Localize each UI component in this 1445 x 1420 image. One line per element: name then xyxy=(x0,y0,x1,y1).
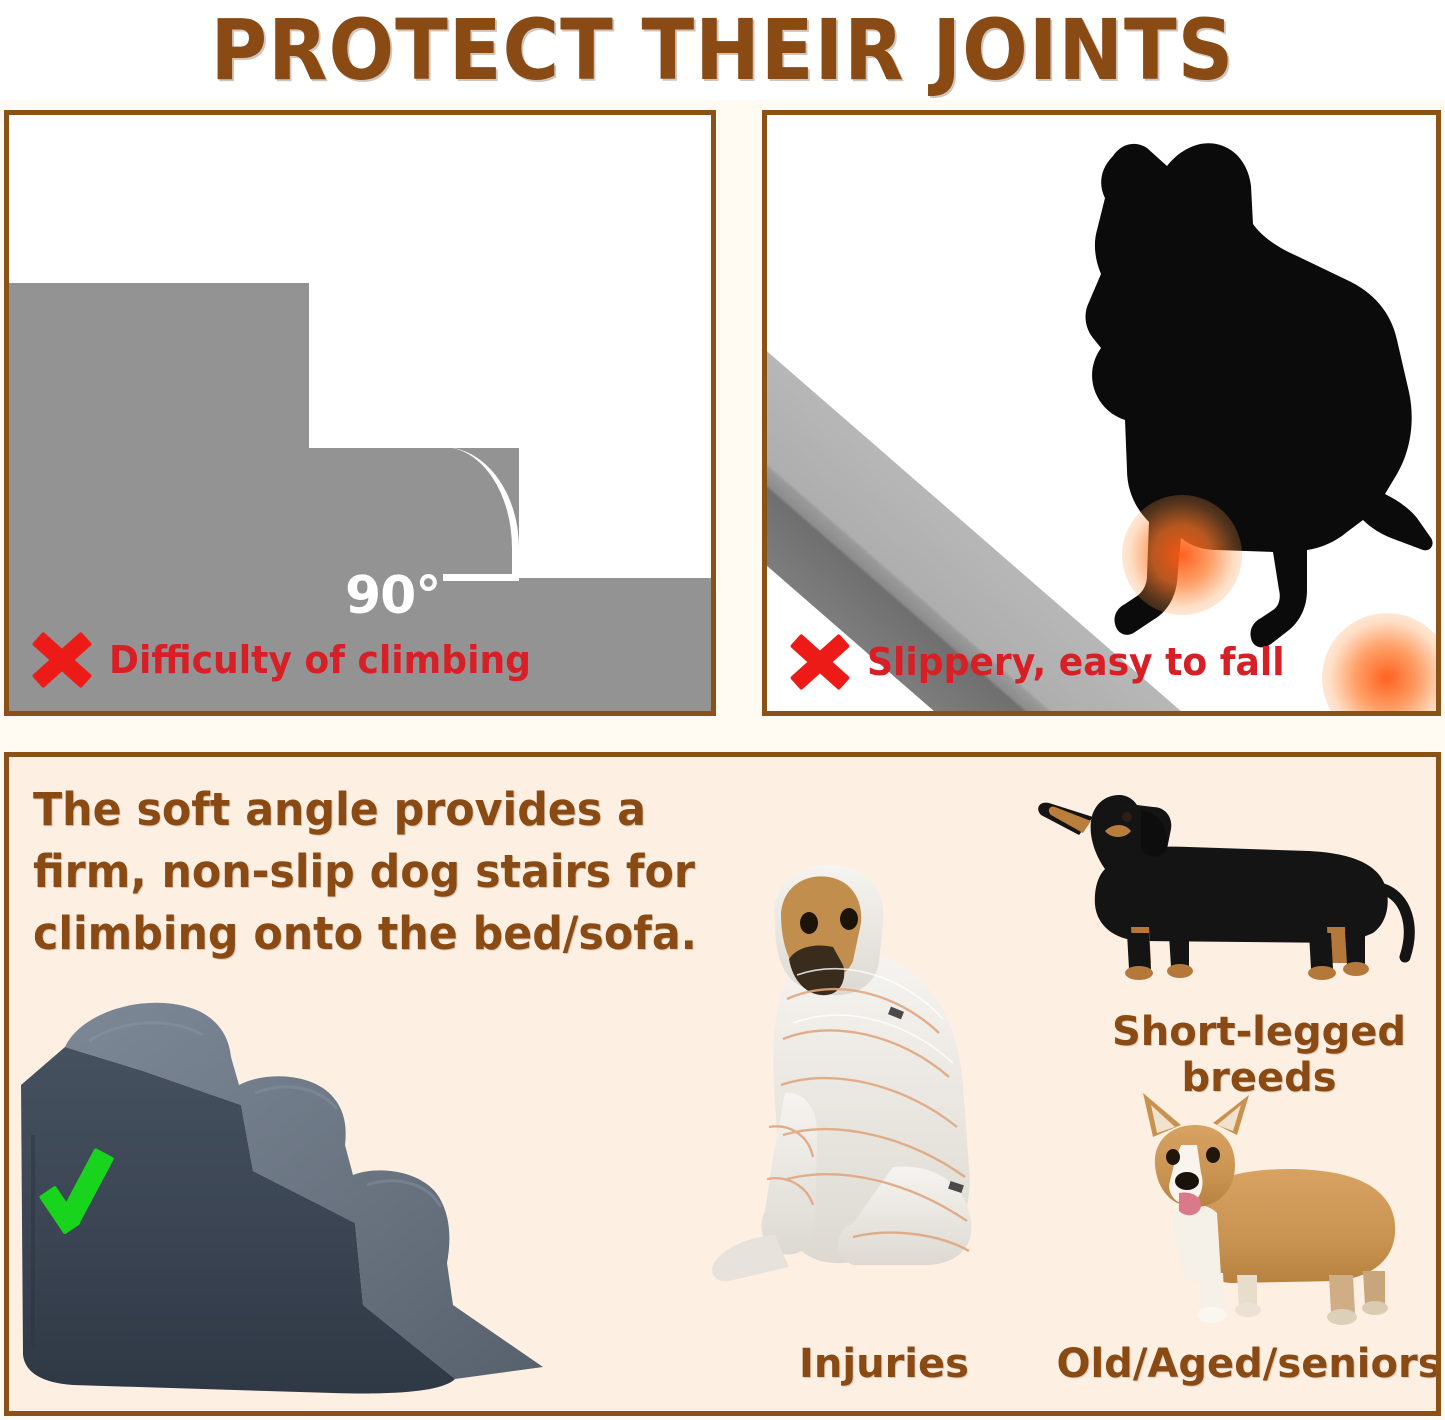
angle-label: 90° xyxy=(345,570,440,622)
dog-silhouette-icon xyxy=(1017,120,1437,680)
label-short-legged-breeds: Short-legged breeds xyxy=(1099,1009,1419,1101)
product-infographic: PROTECT THEIR JOINTS 90° Difficulty of c… xyxy=(0,0,1445,1420)
poster-title-bar: PROTECT THEIR JOINTS xyxy=(0,0,1445,100)
caption-text-slippery: Slippery, easy to fall xyxy=(867,642,1285,682)
check-mark-icon xyxy=(43,1137,139,1233)
panel-difficulty-of-climbing: 90° Difficulty of climbing xyxy=(4,110,716,716)
page-title: PROTECT THEIR JOINTS xyxy=(211,8,1235,92)
label-old-aged-seniors: Old/Aged/seniors xyxy=(1049,1341,1441,1387)
panel-slippery-ramp: Slippery, easy to fall xyxy=(762,110,1441,716)
staircase-illustration: 90° xyxy=(9,115,711,711)
corgi-photo xyxy=(1095,1089,1435,1329)
x-mark-icon xyxy=(789,631,851,693)
caption-text-difficulty: Difficulty of climbing xyxy=(109,640,531,680)
injured-dog-photo xyxy=(657,827,1057,1317)
solution-headline: The soft angle provides a firm, non-slip… xyxy=(33,779,698,965)
label-injuries: Injuries xyxy=(769,1341,999,1387)
x-mark-icon xyxy=(31,629,93,691)
dachshund-photo xyxy=(1009,777,1429,997)
caption-difficulty: Difficulty of climbing xyxy=(31,629,553,691)
panel-solution: The soft angle provides a firm, non-slip… xyxy=(4,752,1441,1416)
caption-slippery: Slippery, easy to fall xyxy=(789,631,1307,693)
